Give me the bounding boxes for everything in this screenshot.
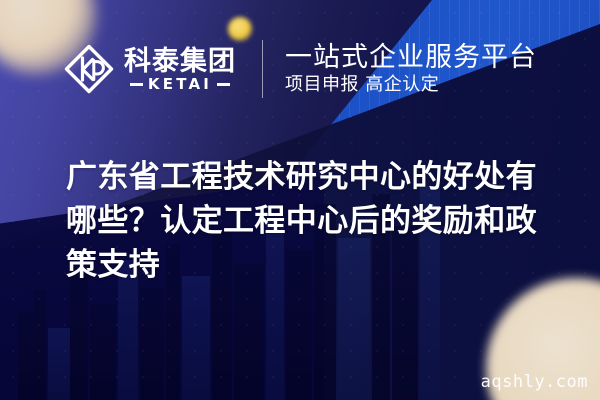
promo-banner: 科泰集团 KETAI 一站式企业服务平台 项目申报 高企认定 广东省工程技术研究… — [0, 0, 600, 400]
dash-right-icon — [217, 83, 230, 86]
brand-logo[interactable]: 科泰集团 KETAI — [63, 43, 236, 95]
header-divider — [262, 40, 263, 98]
brand-tagline: 一站式企业服务平台 项目申报 高企认定 — [285, 43, 537, 95]
dash-left-icon — [130, 83, 143, 86]
decorative-gold-orb — [228, 17, 252, 41]
ketai-diamond-kp-logo-icon — [63, 43, 115, 95]
tagline-primary: 一站式企业服务平台 — [285, 44, 537, 72]
brand-name-cn: 科泰集团 — [124, 48, 236, 75]
brand-name-en: KETAI — [148, 77, 212, 92]
banner-header: 科泰集团 KETAI 一站式企业服务平台 项目申报 高企认定 — [63, 40, 537, 98]
site-watermark: aqshly.com — [481, 372, 588, 392]
brand-wordmark: 科泰集团 KETAI — [124, 46, 236, 92]
tagline-secondary: 项目申报 高企认定 — [285, 76, 537, 95]
brand-name-en-row: KETAI — [124, 77, 236, 92]
banner-headline: 广东省工程技术研究中心的好处有哪些？认定工程中心后的奖励和政策支持 — [66, 155, 544, 287]
